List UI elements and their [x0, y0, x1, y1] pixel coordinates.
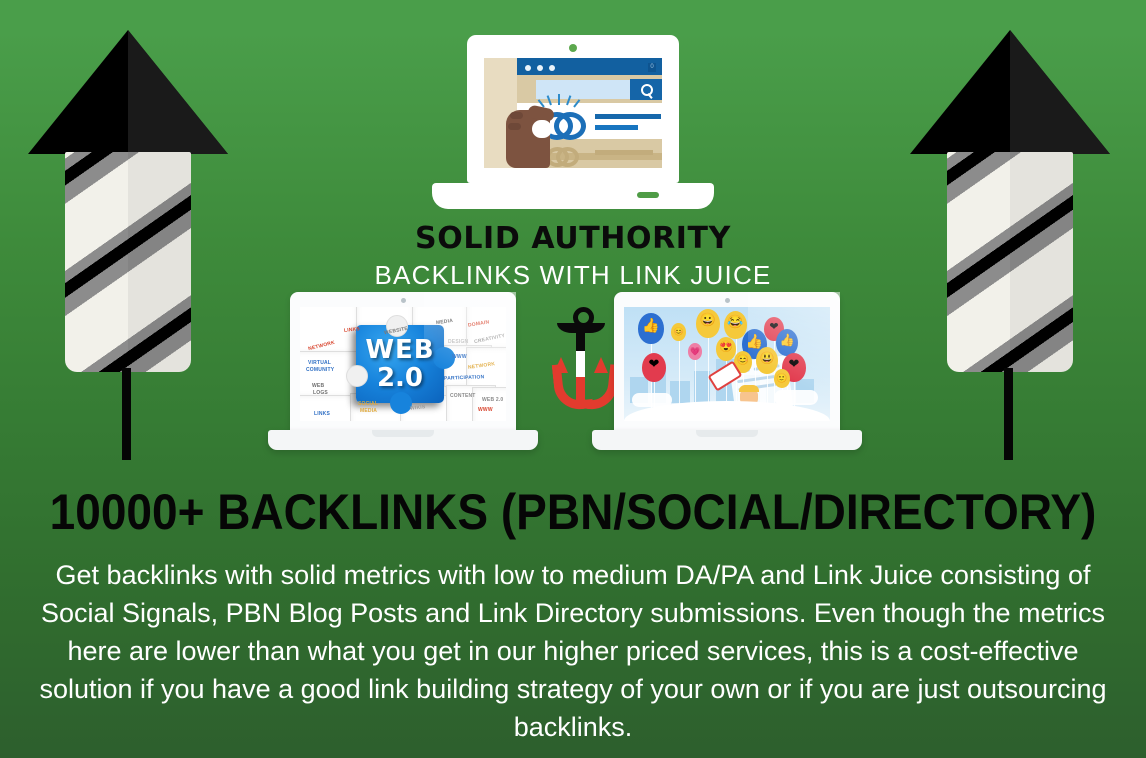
reaction-balloon: 🙂 [774, 369, 790, 388]
rocket-body-shade [1010, 152, 1073, 372]
laptop-lid: 0 [467, 35, 679, 183]
puzzle-word-label: COMUNITY [306, 367, 334, 373]
rocket-cone-shade [1010, 30, 1110, 154]
reaction-balloon: 😍 [716, 337, 736, 361]
character-hair [739, 385, 759, 392]
reaction-emoji-icon: 😀 [696, 315, 720, 325]
puzzle-word-label: VIRTUAL [308, 360, 331, 366]
laptop-notch [637, 192, 659, 198]
browser-badge: 0 [648, 63, 656, 72]
reaction-emoji-icon: 😍 [716, 342, 736, 352]
laptop-social-signals: 👍😊😀💗❤😂😍👍❤👍😊😃❤🙂 [592, 292, 862, 457]
reaction-balloon: 😀 [696, 309, 720, 338]
result-line-2 [595, 125, 638, 130]
laptop-hinge [372, 430, 434, 437]
reaction-emoji-icon: 👍 [776, 335, 798, 345]
description-text: Get backlinks with solid metrics with lo… [38, 556, 1108, 746]
puzzle-word-label: WWW [478, 407, 493, 413]
reaction-emoji-icon: 😊 [671, 327, 686, 337]
reaction-emoji-icon: 😂 [724, 317, 747, 327]
poster-canvas: 0 [0, 0, 1146, 758]
reaction-balloon: 👍 [776, 329, 798, 356]
reaction-emoji-icon: 👍 [742, 336, 767, 346]
reaction-balloon: 👍 [638, 313, 664, 344]
hand-illustration [506, 110, 550, 168]
window-dot-icon [525, 65, 531, 71]
social-illustration: 👍😊😀💗❤😂😍👍❤👍😊😃❤🙂 [624, 307, 830, 421]
puzzle-word-label: WEB [312, 383, 324, 389]
window-dot-icon [549, 65, 555, 71]
reaction-emoji-icon: 👍 [638, 320, 664, 330]
laptop-web2-puzzle: WEB 2.0 NETWORKLINKSWEBSITEMEDIADOMAINVI… [268, 292, 538, 457]
anchor-shaft-bottom [576, 377, 585, 403]
puzzle-word-label: LINKS [314, 411, 330, 417]
laptop-lid: 👍😊😀💗❤😂😍👍❤👍😊😃❤🙂 [614, 292, 840, 432]
puzzle-word-label: DESIGN [448, 339, 468, 345]
window-dot-icon [537, 65, 543, 71]
reaction-emoji-icon: ❤ [642, 359, 666, 369]
puzzle-word-label: CONTENT [450, 393, 476, 399]
puzzle-illustration: WEB 2.0 NETWORKLINKSWEBSITEMEDIADOMAINVI… [300, 307, 506, 421]
reaction-balloon: ❤ [642, 353, 666, 382]
webcam-icon [725, 298, 730, 303]
browser-ghost-line [595, 150, 653, 155]
puzzle-knob [390, 392, 412, 414]
reaction-emoji-icon: 😊 [734, 356, 752, 366]
laptop-hinge [696, 430, 758, 437]
city-building [670, 381, 690, 403]
reaction-emoji-icon: 🙂 [774, 373, 790, 383]
reaction-emoji-icon: 💗 [688, 347, 702, 357]
reaction-balloon: 💗 [688, 343, 702, 360]
result-line-1 [595, 114, 661, 119]
rocket-body-shade [128, 152, 191, 372]
search-input[interactable] [536, 80, 630, 99]
reaction-emoji-icon: ❤ [782, 359, 806, 369]
laptop-seo-browser: 0 [432, 35, 714, 215]
puzzle-piece [472, 387, 506, 421]
browser-mockup: 0 [484, 58, 662, 168]
reaction-emoji-icon: 😃 [756, 353, 778, 363]
puzzle-word-label: LOGS [313, 390, 328, 396]
puzzle-word-label: WWW [452, 354, 467, 360]
rocket-stick [122, 368, 131, 460]
puzzle-text-web: WEB [356, 337, 444, 363]
hand-finger [510, 112, 523, 119]
anchor-spike-left [554, 357, 568, 373]
search-icon [641, 84, 653, 96]
webcam-icon [401, 298, 406, 303]
reaction-balloon: 😃 [756, 347, 778, 374]
hand-gap [532, 120, 552, 138]
laptop-lid: WEB 2.0 NETWORKLINKSWEBSITEMEDIADOMAINVI… [290, 292, 516, 432]
puzzle-text-version: 2.0 [356, 365, 444, 391]
puzzle-word-label: WEB 2.0 [482, 397, 503, 403]
headline: 10000+ BACKLINKS (PBN/SOCIAL/DIRECTORY) [46, 484, 1100, 540]
rocket-stick [1004, 368, 1013, 460]
laptop-base [432, 183, 714, 209]
webcam-icon [569, 44, 577, 52]
reaction-balloon: 😊 [671, 323, 686, 341]
chain-link-icon [554, 112, 586, 140]
social-screen: 👍😊😀💗❤😂😍👍❤👍😊😃❤🙂 [624, 307, 830, 421]
puzzle-word-label: SOCIAL [358, 401, 378, 407]
hand-finger [508, 123, 521, 130]
puzzle-center-piece: WEB 2.0 [356, 325, 444, 403]
chain-link-ghost-icon [556, 147, 579, 167]
balloon-string [679, 341, 680, 411]
puzzle-screen: WEB 2.0 NETWORKLINKSWEBSITEMEDIADOMAINVI… [300, 307, 506, 421]
spark-icon [558, 94, 560, 105]
puzzle-word-label: MEDIA [360, 408, 377, 414]
rocket-cone-shade [128, 30, 228, 154]
